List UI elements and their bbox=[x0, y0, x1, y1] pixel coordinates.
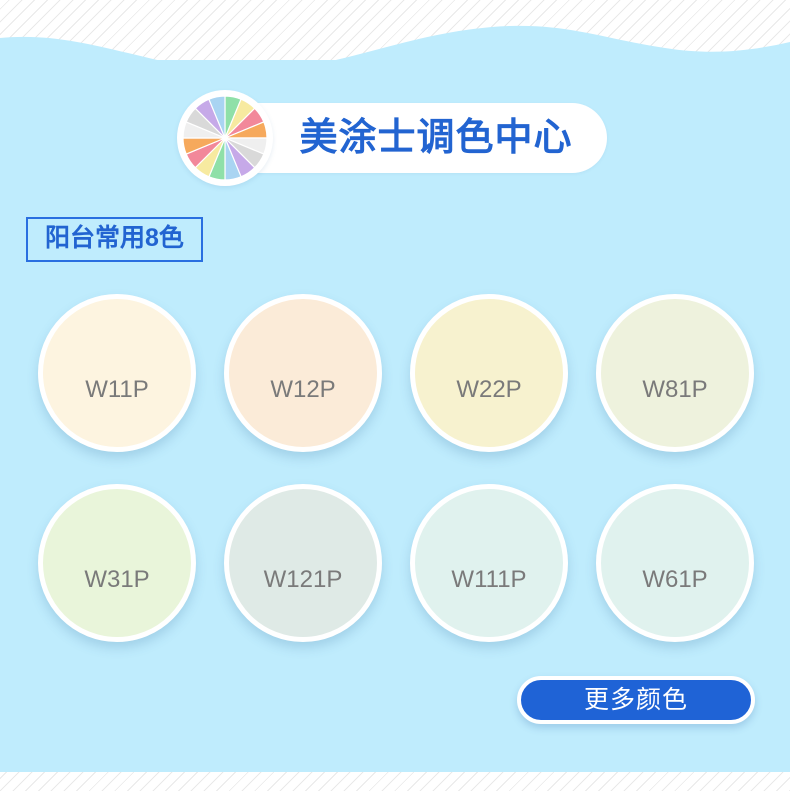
swatch-cell: W12P bbox=[210, 278, 396, 468]
section-badge: 阳台常用8色 bbox=[26, 217, 203, 262]
header-inner: 美涂士调色中心 bbox=[177, 90, 606, 186]
bottom-stripe-band bbox=[0, 772, 790, 791]
color-swatch-label: W61P bbox=[642, 568, 707, 592]
color-swatch-label: W12P bbox=[270, 378, 335, 402]
color-swatch-label: W121P bbox=[264, 568, 343, 592]
color-swatch[interactable]: W111P bbox=[410, 484, 568, 642]
swatch-cell: W31P bbox=[24, 468, 210, 658]
page-title: 美涂士调色中心 bbox=[299, 119, 572, 157]
color-wheel-svg bbox=[183, 96, 267, 180]
swatch-cell: W111P bbox=[396, 468, 582, 658]
swatch-cell: W81P bbox=[582, 278, 768, 468]
swatch-cell: W11P bbox=[24, 278, 210, 468]
color-swatch-label: W22P bbox=[456, 378, 521, 402]
more-colors-button[interactable]: 更多颜色 bbox=[517, 676, 755, 724]
color-swatch[interactable]: W12P bbox=[224, 294, 382, 452]
color-swatch[interactable]: W22P bbox=[410, 294, 568, 452]
more-colors-button-label: 更多颜色 bbox=[584, 688, 688, 713]
swatch-grid: W11PW12PW22PW81PW31PW121PW111PW61P bbox=[24, 278, 768, 658]
color-swatch-label: W11P bbox=[85, 378, 149, 402]
color-swatch-label: W81P bbox=[642, 378, 707, 402]
color-swatch[interactable]: W11P bbox=[38, 294, 196, 452]
swatch-cell: W22P bbox=[396, 278, 582, 468]
header: 美涂士调色中心 bbox=[0, 88, 790, 188]
page-root: 美涂士调色中心 阳台常用8色 W11PW12PW22PW81PW31PW121P… bbox=[0, 0, 790, 791]
color-swatch[interactable]: W121P bbox=[224, 484, 382, 642]
color-swatch-label: W111P bbox=[451, 568, 526, 592]
wave-divider bbox=[0, 18, 790, 82]
color-swatch[interactable]: W31P bbox=[38, 484, 196, 642]
color-swatch-label: W31P bbox=[84, 568, 149, 592]
color-swatch[interactable]: W81P bbox=[596, 294, 754, 452]
color-wheel-icon bbox=[177, 90, 273, 186]
color-swatch[interactable]: W61P bbox=[596, 484, 754, 642]
title-pill: 美涂士调色中心 bbox=[217, 103, 606, 173]
swatch-cell: W61P bbox=[582, 468, 768, 658]
section-badge-label: 阳台常用8色 bbox=[45, 224, 184, 252]
swatch-cell: W121P bbox=[210, 468, 396, 658]
